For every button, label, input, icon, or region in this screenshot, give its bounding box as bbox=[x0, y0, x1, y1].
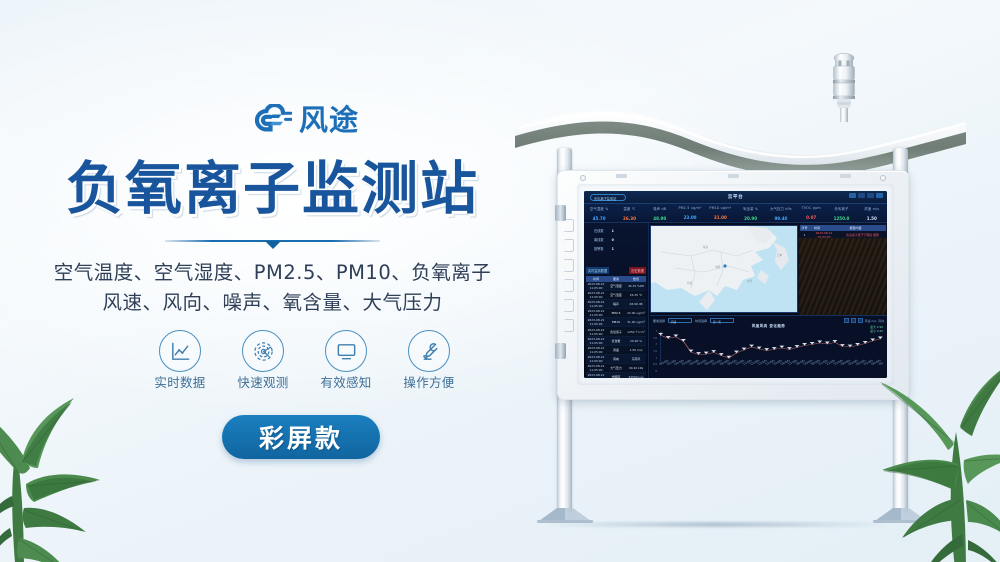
svg-text:蒙古: 蒙古 bbox=[703, 245, 709, 249]
chart-point bbox=[713, 352, 714, 353]
y-tick-label: 0.5 bbox=[653, 363, 657, 366]
metric-card: TVOC ppm0.07 bbox=[796, 204, 826, 222]
chart-line-windspeed bbox=[661, 335, 881, 358]
dashboard-title: 云平台 bbox=[584, 194, 887, 200]
topbar-chip[interactable] bbox=[858, 193, 865, 198]
table-row[interactable]: 2023-08-21 11:05:00PM1031.00 ug/m³ bbox=[586, 318, 646, 327]
feature-label: 有效感知 bbox=[320, 375, 371, 390]
divider bbox=[0, 236, 545, 250]
table-cell: 2023-08-21 11:05:00 bbox=[586, 337, 606, 345]
dashboard-body: 在线数1 离线数0 报警数1 实时监测数据 历史数据 时间要素数值 bbox=[584, 223, 887, 378]
metric-key: 噪声 dB bbox=[645, 206, 675, 211]
chart-control-label: 时间选择 bbox=[695, 319, 707, 323]
chart-y-axis: 32.521.510.50 bbox=[651, 330, 657, 370]
metric-value: 1.50 bbox=[857, 216, 887, 221]
feature-item-fast-observation[interactable]: 快速观测 bbox=[230, 330, 296, 392]
status-alarm: 报警数1 bbox=[594, 246, 614, 251]
subtitle-line-1: 空气温度、空气湿度、PM2.5、PM10、负氧离子 bbox=[0, 258, 545, 288]
wind-direction-marker bbox=[779, 346, 784, 348]
table-cell: 99.40 kPa bbox=[626, 366, 646, 370]
table-cell: 2023-08-21 11:05:00 bbox=[586, 355, 606, 363]
vent-icon bbox=[564, 279, 574, 292]
bolt-icon bbox=[880, 175, 886, 181]
wind-direction-marker bbox=[673, 334, 678, 336]
left-panel: 在线数1 离线数0 报警数1 实时监测数据 历史数据 时间要素数值 bbox=[584, 223, 649, 378]
history-data-button[interactable]: 历史数据 bbox=[629, 267, 646, 274]
table-row[interactable]: 2023-08-21 11:05:00负氧离子1250 个/cm³ bbox=[586, 327, 646, 336]
y-tick-label: 0 bbox=[656, 370, 657, 373]
table-cell: 光照度 bbox=[606, 375, 626, 378]
chart-point bbox=[728, 358, 729, 359]
display-screen[interactable]: 云平台 负氧离子监测站 空气湿度 bbox=[584, 191, 887, 378]
page-title: 负氧离子监测站 bbox=[0, 160, 545, 219]
alarm-col-index: 序号 bbox=[800, 226, 809, 230]
hinge-icon bbox=[555, 343, 566, 359]
chart-point bbox=[690, 352, 691, 353]
table-cell: 负氧离子 bbox=[606, 330, 626, 334]
metric-key: PM10 ug/m³ bbox=[705, 206, 735, 210]
table-row[interactable]: 2023-08-21 11:05:00氧含量20.90 % bbox=[586, 337, 646, 346]
alarm-content: 负氧离子低于下限值 报警 bbox=[839, 233, 886, 237]
metric-value: 99.40 bbox=[766, 216, 796, 221]
clip-icon bbox=[728, 174, 739, 178]
y-tick-label: 2.5 bbox=[653, 337, 657, 340]
svg-text:台湾: 台湾 bbox=[747, 279, 753, 283]
table-cell: PM2.5 bbox=[606, 311, 626, 315]
chart-point bbox=[781, 348, 782, 349]
table-cell: 东南风 bbox=[626, 357, 646, 361]
topbar-chip[interactable] bbox=[867, 193, 874, 198]
table-row[interactable]: 2023-08-21 11:05:00风速1.50 m/s bbox=[586, 346, 646, 355]
alarm-index: 1 bbox=[800, 233, 809, 237]
table-cell: 2023-08-21 11:05:00 bbox=[586, 364, 606, 372]
chart-point bbox=[880, 338, 881, 339]
status-online: 在线数1 bbox=[594, 228, 614, 233]
table-cell: 2023-08-21 11:05:00 bbox=[586, 300, 606, 308]
y-tick-label: 1.5 bbox=[653, 350, 657, 353]
wind-direction-marker bbox=[817, 341, 822, 343]
wind-direction-marker bbox=[742, 348, 747, 350]
text-column: 风途 负氧离子监测站 空气温度、空气湿度、PM2.5、PM10、负氧离子 风速、… bbox=[0, 0, 545, 562]
table-cell: 31.00 ug/m³ bbox=[626, 320, 646, 324]
chart-toolbar-button[interactable] bbox=[844, 318, 849, 323]
table-cell: 23.00 ug/m³ bbox=[626, 311, 646, 315]
metric-value: 0.07 bbox=[796, 215, 826, 220]
data-table-body: 2023-08-21 11:05:00空气湿度45.70 %RH2023-08-… bbox=[586, 282, 646, 376]
chart-toolbar-button[interactable] bbox=[851, 318, 856, 323]
chart-point bbox=[758, 349, 759, 350]
metric-value: 48.90 bbox=[645, 216, 675, 221]
alarm-col-time: 时间 bbox=[809, 226, 825, 230]
table-cell: 氧含量 bbox=[606, 339, 626, 343]
chart-point bbox=[743, 350, 744, 351]
data-table-title: 实时监测数据 bbox=[586, 267, 609, 274]
table-cell: 45.70 %RH bbox=[626, 284, 646, 288]
y-tick-label: 2 bbox=[656, 343, 657, 346]
metric-strip: 空气湿度 %45.70温度 ℃26.30噪声 dB48.90PM2.5 ug/m… bbox=[584, 204, 887, 223]
feature-list: 实时数据 快速观测 bbox=[147, 330, 462, 392]
table-column-header: 要素 bbox=[606, 277, 626, 281]
vent-icon bbox=[564, 259, 574, 272]
ground-shadow bbox=[541, 522, 891, 527]
svg-text:中国: 中国 bbox=[715, 265, 721, 269]
feature-item-easy-operation[interactable]: 操作方便 bbox=[396, 330, 462, 392]
subtitle-line-2: 风速、风向、噪声、氧含量、大气压力 bbox=[0, 288, 545, 318]
display-cabinet: 云平台 负氧离子监测站 空气湿度 bbox=[557, 170, 909, 400]
vent-icon bbox=[564, 319, 574, 332]
table-column-header: 时间 bbox=[586, 277, 606, 281]
station-map[interactable]: 蒙古 中国 日本 印度 台湾 bbox=[650, 225, 798, 313]
alarm-col-content: 报警内容 bbox=[825, 226, 886, 230]
bolt-icon bbox=[580, 175, 586, 181]
table-cell: 1.50 m/s bbox=[626, 348, 646, 352]
metric-value: 23.00 bbox=[675, 215, 705, 220]
metric-key: 空气湿度 % bbox=[584, 206, 614, 211]
feature-label: 实时数据 bbox=[154, 375, 205, 390]
wind-direction-marker bbox=[832, 340, 837, 342]
wrench-icon bbox=[408, 330, 450, 372]
clip-icon bbox=[616, 174, 627, 178]
wind-cloud-logo-icon bbox=[252, 104, 292, 136]
product-illustration: 云平台 负氧离子监测站 空气湿度 bbox=[495, 30, 975, 550]
wind-direction-marker bbox=[689, 350, 694, 352]
table-cell: 1250 个/cm³ bbox=[626, 330, 646, 334]
table-cell: 噪声 bbox=[606, 302, 626, 306]
metric-key: PM2.5 ug/m³ bbox=[675, 206, 705, 210]
metric-key: 温度 ℃ bbox=[614, 206, 644, 211]
status-offline: 离线数0 bbox=[594, 237, 614, 242]
cta-button[interactable]: 彩屏款 bbox=[222, 415, 380, 459]
metric-card: 大气压力 kPa99.40 bbox=[766, 204, 796, 222]
chart-point bbox=[804, 345, 805, 346]
table-cell: 2023-08-21 11:05:00 bbox=[586, 318, 606, 326]
time-range-select[interactable]: 近一天 bbox=[710, 318, 734, 323]
table-row[interactable]: 2023-08-21 11:05:00空气温度26.30 ℃ bbox=[586, 291, 646, 300]
chart-point bbox=[751, 347, 752, 348]
vent-icon bbox=[564, 239, 574, 252]
chart-point bbox=[774, 349, 775, 350]
brand-logo: 风途 bbox=[252, 104, 359, 136]
radar-scan-icon bbox=[242, 330, 284, 372]
station-tab[interactable]: 负氧离子监测站 bbox=[590, 194, 626, 201]
feature-item-realtime-data[interactable]: 实时数据 bbox=[147, 330, 213, 392]
chart-legend: 风速 m/s 风向 bbox=[844, 318, 884, 323]
table-cell: 26.30 ℃ bbox=[626, 293, 646, 297]
metric-card: 氧含量 %20.90 bbox=[735, 204, 765, 222]
wind-direction-marker bbox=[711, 350, 716, 352]
table-cell: 2023-08-21 11:05:00 bbox=[586, 309, 606, 317]
chart-point bbox=[819, 343, 820, 344]
legend-item-windspeed: 风速 m/s bbox=[865, 319, 877, 323]
metric-key: TVOC ppm bbox=[796, 206, 826, 210]
wind-direction-marker bbox=[719, 353, 724, 355]
table-cell: 2023-08-21 11:05:00 bbox=[586, 291, 606, 299]
topbar-chip[interactable] bbox=[849, 193, 856, 198]
chart-point bbox=[705, 354, 706, 355]
chart-point bbox=[842, 346, 843, 347]
feature-item-effective-sensing[interactable]: 有效感知 bbox=[313, 330, 379, 392]
metric-card: 风速 m/s1.50 bbox=[857, 204, 887, 222]
wind-direction-marker bbox=[878, 336, 883, 338]
clip-icon bbox=[840, 174, 851, 178]
topbar-chip[interactable] bbox=[876, 193, 883, 198]
station-tab-label: 负氧离子监测站 bbox=[594, 196, 616, 201]
feature-label: 操作方便 bbox=[403, 375, 454, 390]
table-cell: PM10 bbox=[606, 320, 626, 324]
chart-point bbox=[736, 353, 737, 354]
metric-value: 45.70 bbox=[584, 216, 614, 221]
table-cell: 2023-08-21 11:05:00 bbox=[586, 282, 606, 290]
table-row[interactable]: 2023-08-21 11:05:00PM2.523.00 ug/m³ bbox=[586, 309, 646, 318]
chart-point bbox=[849, 347, 850, 348]
brand-name: 风途 bbox=[299, 106, 359, 135]
legend-item-winddir: 风向 bbox=[878, 319, 884, 323]
feature-label: 快速观测 bbox=[237, 375, 288, 390]
metric-value: 31.00 bbox=[705, 215, 735, 220]
metric-key: 风速 m/s bbox=[857, 206, 887, 211]
metric-key: 氧含量 % bbox=[735, 206, 765, 211]
table-row[interactable]: 2023-08-21 11:05:00噪声48.90 dB bbox=[586, 300, 646, 309]
chart-point bbox=[864, 343, 865, 344]
table-cell: 风速 bbox=[606, 348, 626, 352]
chart-point bbox=[872, 341, 873, 342]
table-cell: 20.90 % bbox=[626, 339, 646, 343]
chart-point bbox=[834, 342, 835, 343]
divider-triangle-icon bbox=[265, 241, 281, 249]
trend-chart-panel: 要素选择 风速 时间选择 近一天 bbox=[650, 315, 887, 378]
table-row[interactable]: 2023-08-21 11:05:00风向东南风 bbox=[586, 355, 646, 364]
wind-direction-marker bbox=[658, 333, 663, 335]
dashboard-topbar: 云平台 负氧离子监测站 bbox=[584, 191, 887, 204]
table-cell: 空气湿度 bbox=[606, 284, 626, 288]
table-cell: 风向 bbox=[606, 357, 626, 361]
data-table-header: 实时监测数据 历史数据 bbox=[586, 267, 646, 274]
y-tick-label: 1 bbox=[656, 357, 657, 360]
y-tick-label: 3 bbox=[656, 330, 657, 333]
chart-point bbox=[827, 344, 828, 345]
chart-point bbox=[683, 341, 684, 342]
chart-point bbox=[796, 347, 797, 348]
vent-icon bbox=[564, 299, 574, 312]
cabinet-inner-frame: 云平台 负氧离子监测站 空气湿度 bbox=[577, 184, 894, 385]
table-cell: 空气温度 bbox=[606, 293, 626, 297]
chart-point bbox=[789, 349, 790, 350]
metric-key: 大气压力 kPa bbox=[766, 206, 796, 211]
wind-direction-marker bbox=[749, 345, 754, 347]
chart-point bbox=[766, 350, 767, 351]
metric-card: PM10 ug/m³31.00 bbox=[705, 204, 735, 222]
alarm-table-row[interactable]: 1 2023-08-21 10:42:00 负氧离子低于下限值 报警 bbox=[800, 232, 886, 238]
chart-axis bbox=[661, 332, 881, 362]
table-cell: 48.90 dB bbox=[626, 302, 646, 306]
metric-card: 噪声 dB48.90 bbox=[645, 204, 675, 222]
monitor-icon bbox=[325, 330, 367, 372]
element-select[interactable]: 风速 bbox=[668, 318, 692, 323]
metric-value: 20.90 bbox=[735, 216, 765, 221]
chart-control-label: 要素选择 bbox=[653, 319, 665, 323]
table-row[interactable]: 2023-08-21 11:05:00空气湿度45.70 %RH bbox=[586, 282, 646, 291]
metric-card: PM2.5 ug/m³23.00 bbox=[675, 204, 705, 222]
table-cell: 2023-08-21 11:05:00 bbox=[586, 373, 606, 378]
table-row[interactable]: 2023-08-21 11:05:00光照度32500 Lux bbox=[586, 373, 646, 378]
table-row[interactable]: 2023-08-21 11:05:00大气压力99.40 kPa bbox=[586, 364, 646, 373]
table-cell: 大气压力 bbox=[606, 366, 626, 370]
promo-banner: 风途 负氧离子监测站 空气温度、空气湿度、PM2.5、PM10、负氧离子 风速、… bbox=[0, 0, 1000, 562]
chart-point bbox=[660, 335, 661, 336]
chart-point bbox=[668, 338, 669, 339]
subtitle: 空气温度、空气湿度、PM2.5、PM10、负氧离子 风速、风向、噪声、氧含量、大… bbox=[0, 258, 545, 317]
metric-key: 负氧离子 bbox=[826, 206, 856, 211]
chart-point bbox=[857, 345, 858, 346]
metric-value: 26.30 bbox=[614, 216, 644, 221]
chart-toolbar-button[interactable] bbox=[858, 318, 863, 323]
table-cell: 2023-08-21 11:05:00 bbox=[586, 328, 606, 336]
topbar-controls bbox=[849, 193, 883, 198]
line-chart-icon bbox=[159, 330, 201, 372]
chart-point bbox=[675, 336, 676, 337]
chart-plot-area: 00:0001:0002:0003:0004:0005:0006:0007:00… bbox=[658, 330, 883, 375]
metric-card: 空气湿度 %45.70 bbox=[584, 204, 614, 222]
svg-text:印度: 印度 bbox=[687, 281, 693, 285]
chart-point bbox=[721, 355, 722, 356]
chart-point bbox=[698, 354, 699, 355]
table-cell: 32500 Lux bbox=[626, 375, 646, 378]
chart-point bbox=[811, 344, 812, 345]
metric-card: 负氧离子1250.0 bbox=[826, 204, 856, 222]
metric-value: 1250.0 bbox=[826, 216, 856, 221]
chart-title: 风速风向 变化趋势 bbox=[650, 324, 887, 329]
metric-card: 温度 ℃26.30 bbox=[614, 204, 644, 222]
vent-icon bbox=[564, 219, 574, 232]
svg-text:日本: 日本 bbox=[777, 253, 783, 257]
table-column-header: 数值 bbox=[626, 277, 646, 281]
wind-direction-marker bbox=[734, 351, 739, 353]
dashboard-ui: 云平台 负氧离子监测站 空气湿度 bbox=[584, 191, 887, 378]
table-cell: 2023-08-21 11:05:00 bbox=[586, 346, 606, 354]
chart-controls: 要素选择 风速 时间选择 近一天 bbox=[653, 318, 734, 323]
